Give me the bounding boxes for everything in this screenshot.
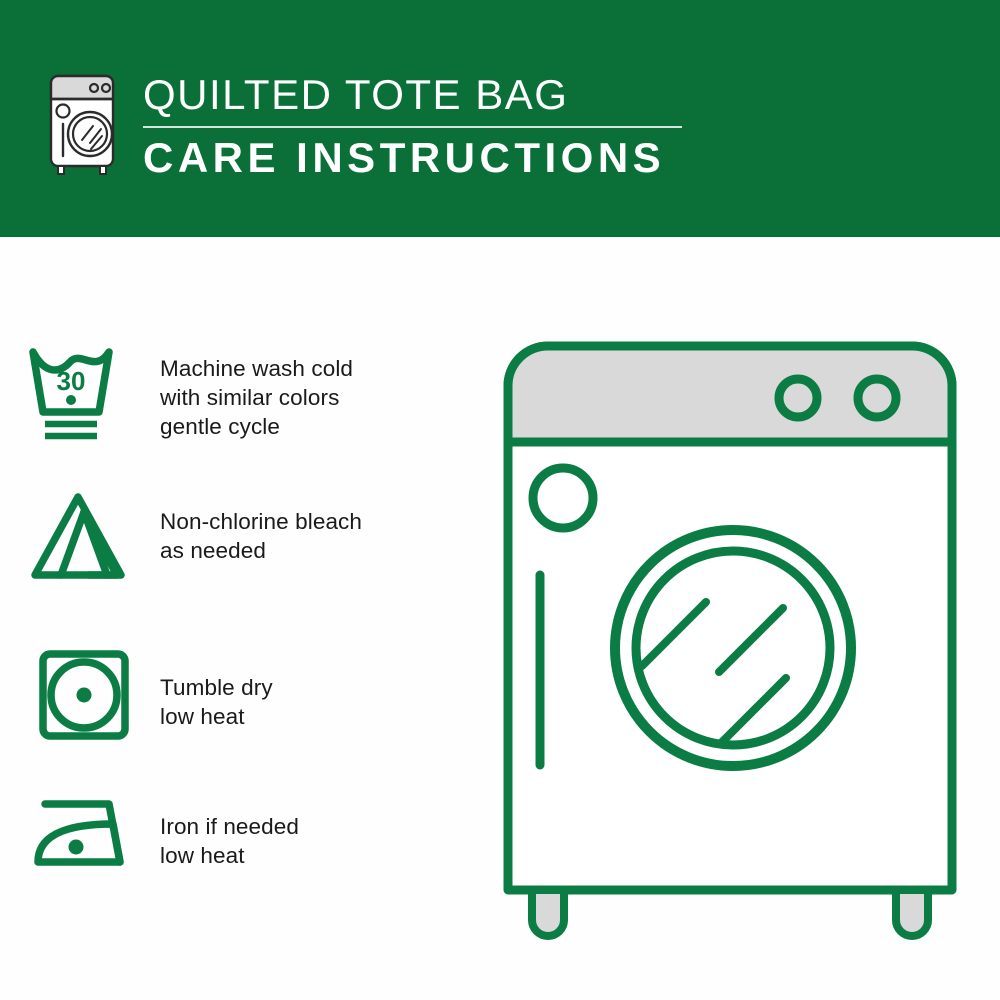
tumble-dry-low-heat-icon xyxy=(0,645,160,745)
page-title-primary: QUILTED TOTE BAG xyxy=(143,70,703,120)
care-row-wash: 30 Machine wash cold with similar colors… xyxy=(0,340,353,445)
washer-leg-right xyxy=(896,890,928,936)
header-band: QUILTED TOTE BAG CARE INSTRUCTIONS xyxy=(0,0,1000,237)
front-load-washing-machine-illustration xyxy=(490,330,970,940)
iron-low-heat-icon xyxy=(0,790,160,880)
washer-leg-left xyxy=(532,890,564,936)
care-text-dry: Tumble dry low heat xyxy=(160,645,273,731)
care-instructions-page: QUILTED TOTE BAG CARE INSTRUCTIONS 30 xyxy=(0,0,1000,1000)
care-text-iron: Iron if needed low heat xyxy=(160,790,299,870)
care-row-dry: Tumble dry low heat xyxy=(0,645,273,745)
non-chlorine-bleach-triangle-icon xyxy=(0,487,160,587)
washing-machine-icon xyxy=(46,72,122,176)
care-text-wash: Machine wash cold with similar colors ge… xyxy=(160,340,353,441)
header-text-block: QUILTED TOTE BAG CARE INSTRUCTIONS xyxy=(143,70,703,183)
page-title-secondary: CARE INSTRUCTIONS xyxy=(143,133,703,183)
wash-tub-30-icon: 30 xyxy=(0,340,160,445)
care-row-bleach: Non-chlorine bleach as needed xyxy=(0,487,362,587)
title-divider xyxy=(143,126,682,128)
wash-temperature-label: 30 xyxy=(57,366,86,396)
care-text-bleach: Non-chlorine bleach as needed xyxy=(160,487,362,565)
care-row-iron: Iron if needed low heat xyxy=(0,790,299,880)
